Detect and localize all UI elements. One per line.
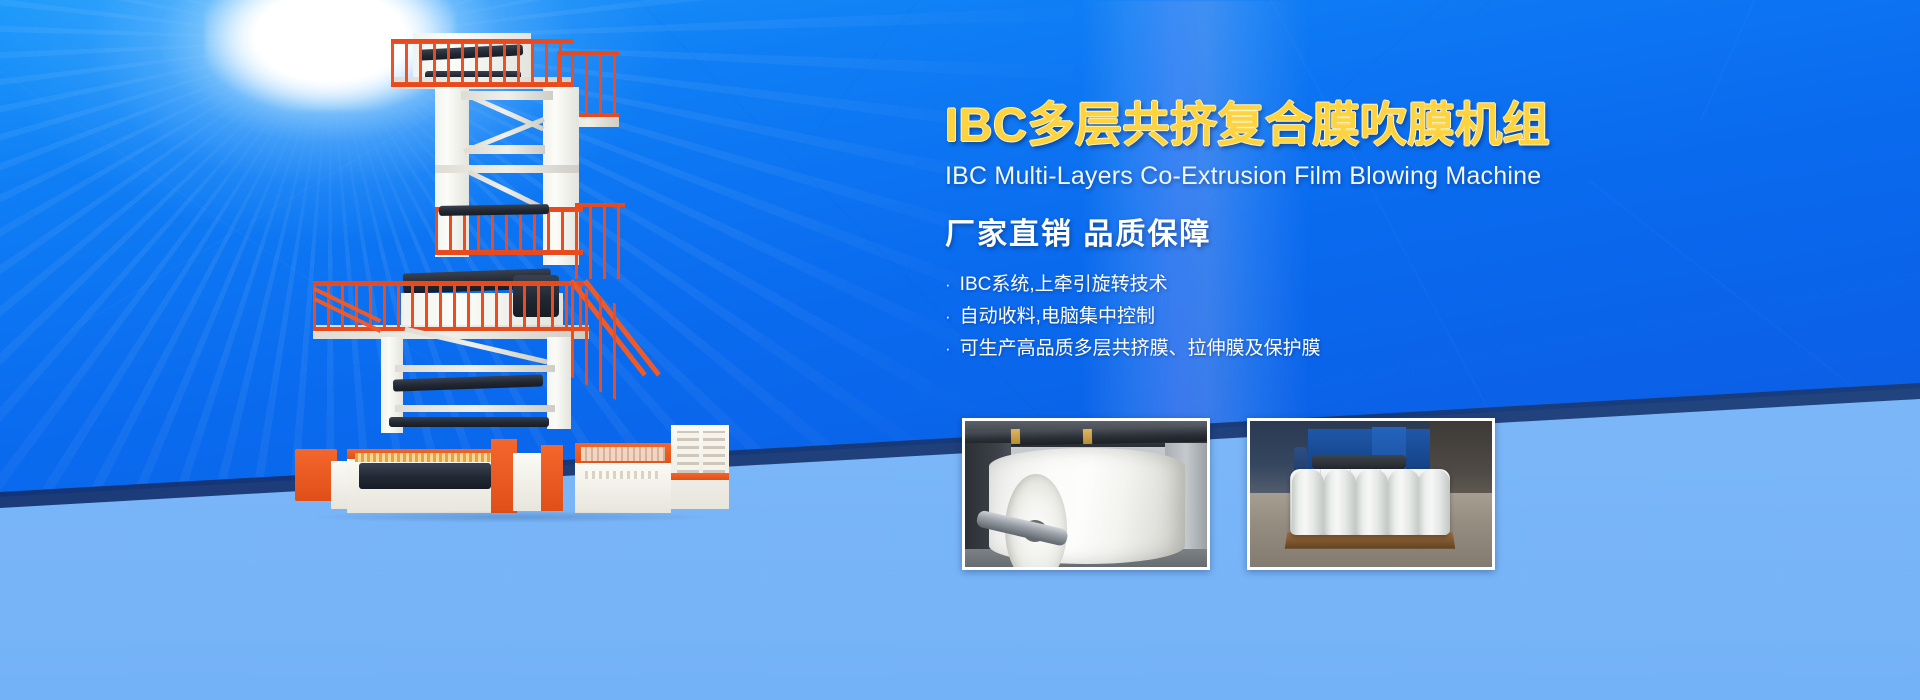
page-subtitle: IBC Multi-Layers Co-Extrusion Film Blowi… — [945, 161, 1605, 191]
bullet-dot-icon: · — [945, 340, 951, 357]
page-title: IBC多层共挤复合膜吹膜机组 — [945, 98, 1605, 152]
list-item-label: 自动收料,电脑集中控制 — [960, 307, 1155, 326]
bullet-dot-icon: · — [945, 308, 951, 325]
list-item-label: IBC系统,上牵引旋转技术 — [960, 275, 1168, 294]
list-item: · 自动收料,电脑集中控制 — [945, 307, 1605, 326]
tagline: 厂家直销 品质保障 — [945, 217, 1605, 253]
product-banner: IBC多层共挤复合膜吹膜机组 IBC Multi-Layers Co-Extru… — [0, 0, 1920, 700]
film-roll-on-winder-photo — [962, 418, 1210, 570]
list-item: · 可生产高品质多层共挤膜、拉伸膜及保护膜 — [945, 339, 1605, 358]
bullet-dot-icon: · — [945, 276, 951, 293]
feature-list: · IBC系统,上牵引旋转技术 · 自动收料,电脑集中控制 · 可生产高品质多层… — [945, 275, 1605, 358]
film-blowing-machine-illustration — [285, 25, 735, 515]
list-item: · IBC系统,上牵引旋转技术 — [945, 275, 1605, 294]
film-rolls-on-pallet-photo — [1247, 418, 1495, 570]
banner-text-block: IBC多层共挤复合膜吹膜机组 IBC Multi-Layers Co-Extru… — [945, 98, 1605, 371]
list-item-label: 可生产高品质多层共挤膜、拉伸膜及保护膜 — [960, 339, 1321, 358]
product-photo-gallery — [962, 418, 1495, 570]
